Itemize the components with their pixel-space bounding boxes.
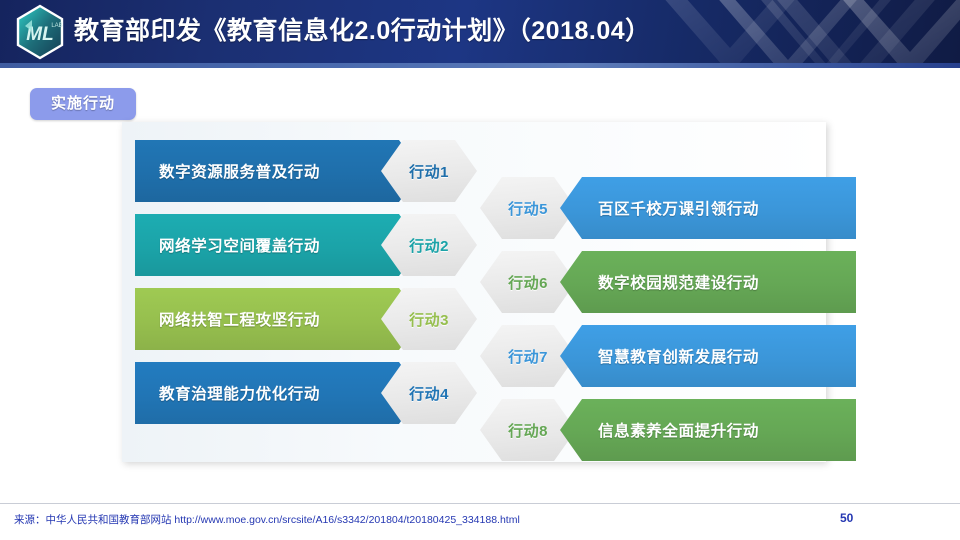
action-bar-5: 百区千校万课引领行动 bbox=[560, 177, 856, 239]
action-row-3[interactable]: 网络扶智工程攻坚行动 行动3 bbox=[135, 288, 495, 350]
ml-logo-icon: ML LAB bbox=[12, 4, 68, 60]
action-bar-1: 数字资源服务普及行动 bbox=[135, 140, 421, 202]
section-badge: 实施行动 bbox=[30, 88, 136, 120]
svg-text:LAB: LAB bbox=[51, 23, 62, 29]
footer-divider bbox=[0, 503, 960, 504]
action-row-2[interactable]: 网络学习空间覆盖行动 行动2 bbox=[135, 214, 495, 276]
action-row-7[interactable]: 行动7 智慧教育创新发展行动 bbox=[480, 325, 818, 387]
section-badge-label: 实施行动 bbox=[30, 88, 136, 120]
page-number: 50 bbox=[840, 511, 853, 525]
action-tag-6: 行动6 bbox=[508, 272, 548, 293]
action-label-3: 网络扶智工程攻坚行动 bbox=[159, 308, 320, 330]
action-row-5[interactable]: 行动5 百区千校万课引领行动 bbox=[480, 177, 818, 239]
source-citation: 来源：中华人民共和国教育部网站 http://www.moe.gov.cn/sr… bbox=[14, 512, 520, 527]
action-tag-5: 行动5 bbox=[508, 198, 548, 219]
action-bar-2: 网络学习空间覆盖行动 bbox=[135, 214, 421, 276]
action-label-5: 百区千校万课引领行动 bbox=[598, 197, 759, 219]
action-tag-2: 行动2 bbox=[409, 235, 449, 256]
action-label-7: 智慧教育创新发展行动 bbox=[598, 345, 759, 367]
action-tag-1: 行动1 bbox=[409, 161, 449, 182]
action-bar-8: 信息素养全面提升行动 bbox=[560, 399, 856, 461]
action-label-4: 教育治理能力优化行动 bbox=[159, 382, 320, 404]
action-row-8[interactable]: 行动8 信息素养全面提升行动 bbox=[480, 399, 818, 461]
action-bar-3: 网络扶智工程攻坚行动 bbox=[135, 288, 421, 350]
action-tag-3: 行动3 bbox=[409, 309, 449, 330]
header-chevron-decoration-icon bbox=[660, 0, 960, 63]
action-bar-7: 智慧教育创新发展行动 bbox=[560, 325, 856, 387]
actions-diagram: 数字资源服务普及行动 行动1 网络学习空间覆盖行动 行动2 网络扶智工程攻坚行动… bbox=[122, 122, 826, 462]
action-tag-4: 行动4 bbox=[409, 383, 449, 404]
action-label-6: 数字校园规范建设行动 bbox=[598, 271, 759, 293]
header-underline bbox=[0, 63, 960, 68]
page-title: 教育部印发《教育信息化2.0行动计划》（2018.04） bbox=[74, 0, 651, 63]
action-label-8: 信息素养全面提升行动 bbox=[598, 419, 759, 441]
action-bar-4: 教育治理能力优化行动 bbox=[135, 362, 421, 424]
slide-header: ML LAB 教育部印发《教育信息化2.0行动计划》（2018.04） bbox=[0, 0, 960, 63]
action-row-1[interactable]: 数字资源服务普及行动 行动1 bbox=[135, 140, 495, 202]
slide: ML LAB 教育部印发《教育信息化2.0行动计划》（2018.04） 实施行动… bbox=[0, 0, 960, 540]
action-tag-8: 行动8 bbox=[508, 420, 548, 441]
action-row-6[interactable]: 行动6 数字校园规范建设行动 bbox=[480, 251, 818, 313]
action-row-4[interactable]: 教育治理能力优化行动 行动4 bbox=[135, 362, 495, 424]
action-label-2: 网络学习空间覆盖行动 bbox=[159, 234, 320, 256]
action-label-1: 数字资源服务普及行动 bbox=[159, 160, 320, 182]
action-bar-6: 数字校园规范建设行动 bbox=[560, 251, 856, 313]
action-tag-7: 行动7 bbox=[508, 346, 548, 367]
